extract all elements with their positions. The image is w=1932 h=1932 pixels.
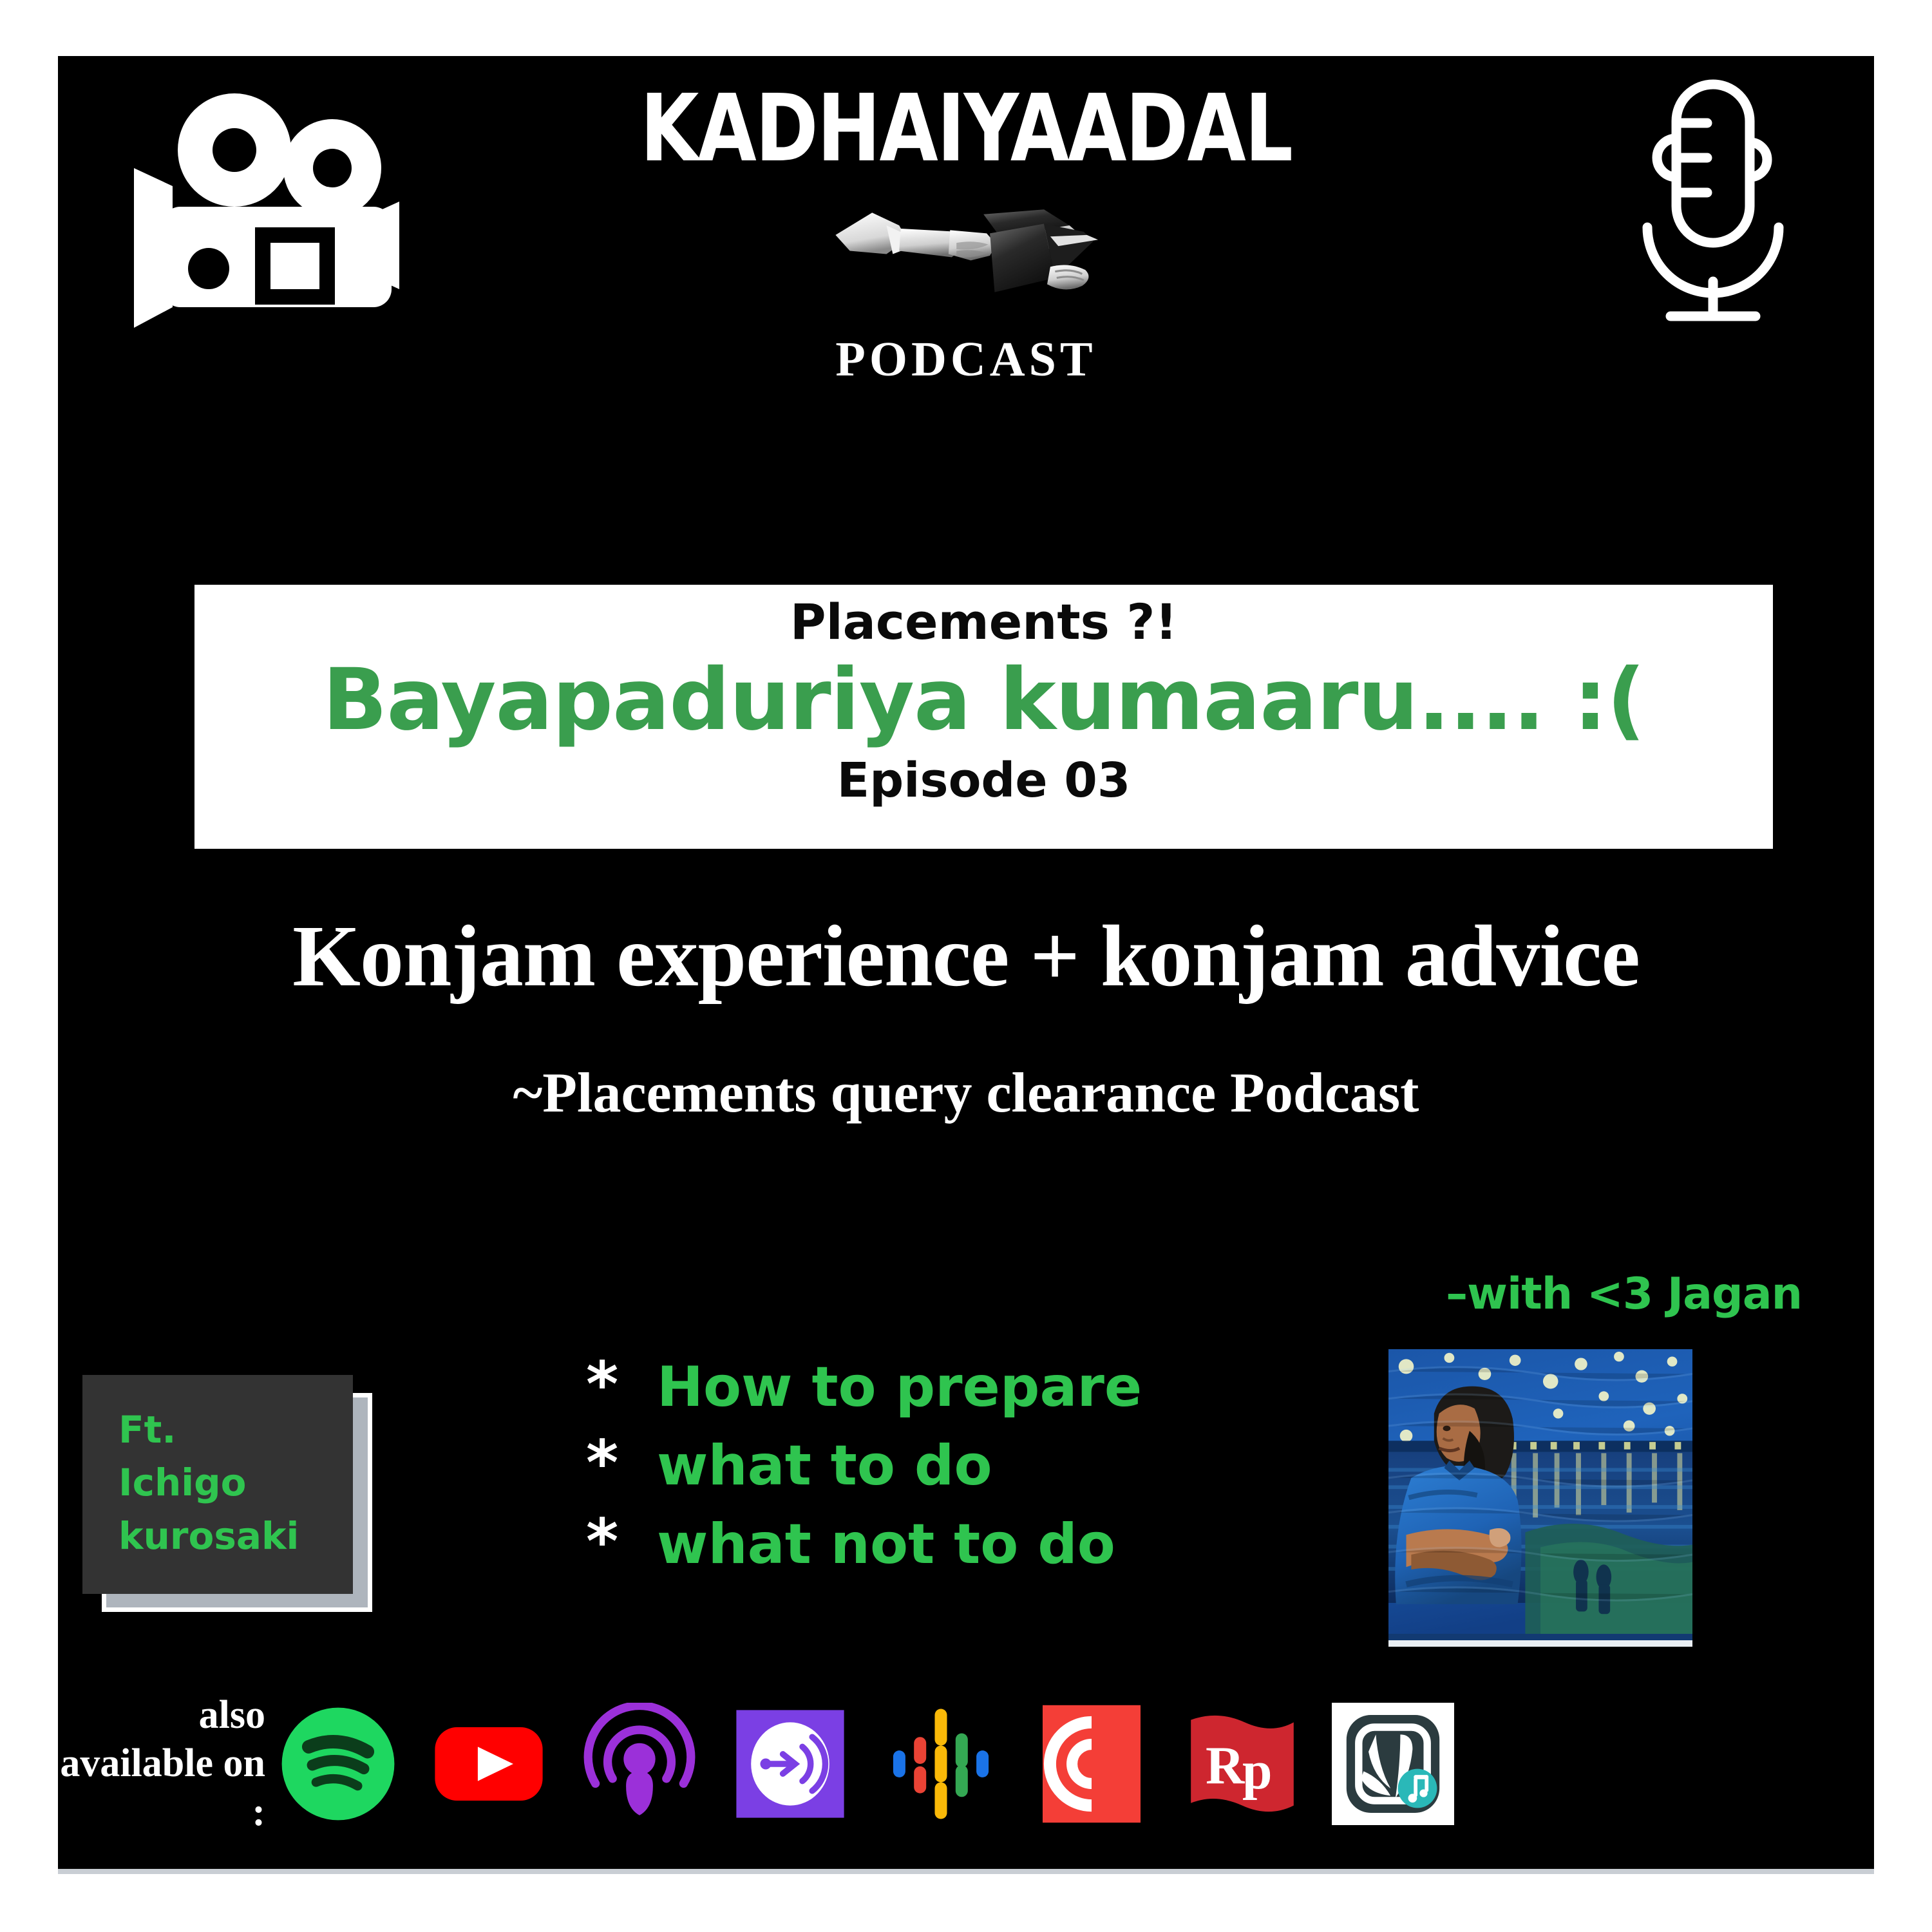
- platform-availability-bar: also available on :: [58, 1683, 1874, 1844]
- tagline: Konjam experience + konjam advice: [58, 906, 1874, 1007]
- brand-title: KADHAIYAADAL: [612, 82, 1320, 175]
- also-available-label: also available on :: [58, 1691, 277, 1837]
- anchor-icon[interactable]: [729, 1703, 851, 1825]
- topic-label-3: what not to do: [657, 1513, 1115, 1577]
- host-credit: –with <3 Jagan: [1446, 1269, 1802, 1320]
- host-portrait-image: [1388, 1349, 1692, 1647]
- featuring-line-1: Ft.: [118, 1403, 353, 1456]
- list-item: * what to do: [586, 1432, 1142, 1498]
- pocket-casts-icon[interactable]: [1030, 1703, 1153, 1825]
- film-camera-icon: [129, 88, 412, 346]
- list-item: * what not to do: [586, 1511, 1142, 1577]
- google-podcasts-icon[interactable]: [880, 1703, 1002, 1825]
- radiopublic-icon[interactable]: R p: [1181, 1703, 1303, 1825]
- bottom-divider: [58, 1869, 1874, 1874]
- spotify-icon[interactable]: [277, 1703, 399, 1825]
- also-available-line-2: available on :: [58, 1739, 265, 1837]
- topic-label-2: what to do: [657, 1434, 992, 1498]
- poster-header: KADHAIYAADAL: [58, 56, 1874, 455]
- asterisk-icon: *: [586, 1432, 657, 1494]
- brand-block: KADHAIYAADAL: [612, 82, 1320, 388]
- featuring-box: Ft. Ichigo kurosaki: [77, 1371, 393, 1622]
- topics-list: * How to prepare * what to do * what not…: [586, 1354, 1142, 1589]
- svg-text:p: p: [1242, 1741, 1273, 1801]
- microphone-icon: [1616, 69, 1810, 339]
- youtube-icon[interactable]: [428, 1703, 550, 1825]
- asterisk-icon: *: [586, 1354, 657, 1416]
- platform-icon-row: R p: [277, 1703, 1454, 1825]
- episode-title-card: Placements ?! Bayapaduriya kumaaru.... :…: [194, 585, 1773, 849]
- apple-podcasts-icon[interactable]: [578, 1703, 701, 1825]
- sub-tagline: ~Placements query clearance Podcast: [58, 1061, 1874, 1126]
- brand-subtitle: PODCAST: [612, 332, 1320, 388]
- jiosaavn-icon[interactable]: [1332, 1703, 1454, 1825]
- title-card-episode: Episode 03: [194, 755, 1773, 807]
- also-available-line-1: also: [58, 1691, 265, 1740]
- asterisk-icon: *: [586, 1511, 657, 1573]
- title-card-headline: Bayapaduriya kumaaru.... :(: [194, 647, 1773, 753]
- podcast-cover-poster: KADHAIYAADAL: [58, 56, 1874, 1874]
- featuring-line-2: Ichigo: [118, 1456, 353, 1509]
- topic-label-1: How to prepare: [657, 1356, 1142, 1419]
- featuring-line-3: kurosaki: [118, 1510, 353, 1562]
- hands-holding-book-graphic: [612, 191, 1320, 314]
- title-card-eyebrow: Placements ?!: [194, 594, 1773, 650]
- list-item: * How to prepare: [586, 1354, 1142, 1419]
- featuring-box-panel: Ft. Ichigo kurosaki: [82, 1375, 353, 1594]
- svg-text:R: R: [1206, 1736, 1245, 1795]
